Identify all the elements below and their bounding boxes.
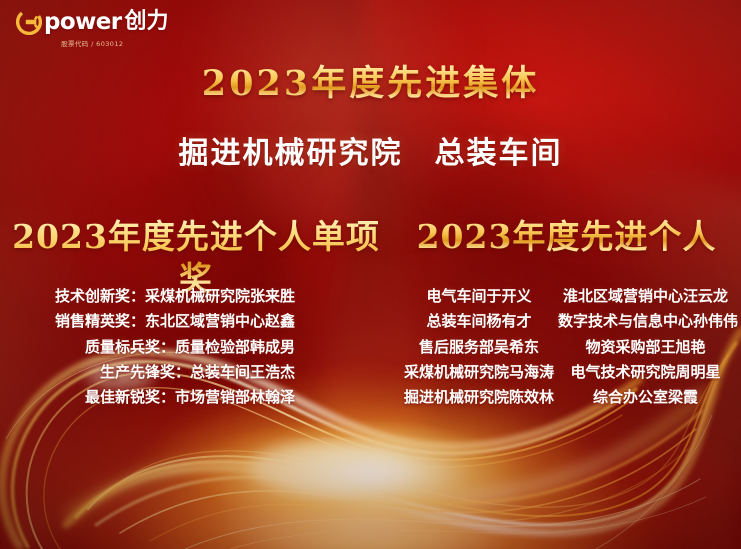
list-row: 售后服务部吴希东 物资采购部王旭艳 [400,335,741,360]
brand-wordmark: power [44,9,121,35]
silk-fold-decoration [178,0,474,231]
list-item: 采煤机械研究院马海涛 [400,360,558,385]
stock-code-label: 股票代码 / 603012 [61,38,123,48]
list-item: 数字技术与信息中心孙伟伟 [558,309,733,334]
power-plug-circle-icon [16,9,42,35]
list-row: 电气车间于开义 淮北区域营销中心汪云龙 [400,284,741,309]
list-item: 物资采购部王旭艳 [558,335,733,360]
list-item: 销售精英奖：东北区域营销中心赵鑫 [55,309,295,334]
list-item: 综合办公室梁霞 [558,385,733,410]
ribbon-glow-wide [0,388,741,549]
list-item: 电气技术研究院周明星 [558,360,733,385]
list-row: 总装车间杨有才 数字技术与信息中心孙伟伟 [400,309,741,334]
page-title: 2023年度先进集体 [0,62,741,106]
list-individual-special-awards: 技术创新奖：采煤机械研究院张来胜 销售精英奖：东北区域营销中心赵鑫 质量标兵奖：… [0,284,392,410]
list-row: 采煤机械研究院马海涛 电气技术研究院周明星 [400,360,741,385]
list-item: 生产先锋奖：总装车间王浩杰 [100,360,295,385]
list-item: 总装车间杨有才 [400,309,558,334]
list-advanced-individuals: 电气车间于开义 淮北区域营销中心汪云龙 总装车间杨有才 数字技术与信息中心孙伟伟… [392,284,741,410]
heading-advanced-individuals: 2023年度先进个人 [392,216,741,258]
list-item: 最佳新锐奖：市场营销部林翰泽 [85,385,295,410]
list-item: 质量标兵奖：质量检验部韩成男 [85,335,295,360]
list-item: 掘进机械研究院陈效林 [400,385,558,410]
list-row: 掘进机械研究院陈效林 综合办公室梁霞 [400,385,741,410]
list-item: 售后服务部吴希东 [400,335,558,360]
brand-logo-row: power 创力 [16,9,168,35]
brand-logo[interactable]: power 创力 股票代码 / 603012 [16,9,168,48]
award-poster: power 创力 股票代码 / 603012 2023年度先进集体 掘进机械研究… [0,0,741,549]
ribbon-glow-core [163,406,578,539]
brand-wordmark-cn: 创力 [124,9,168,35]
list-item: 技术创新奖：采煤机械研究院张来胜 [55,284,295,309]
award-lists: 技术创新奖：采煤机械研究院张来胜 销售精英奖：东北区域营销中心赵鑫 质量标兵奖：… [0,284,741,410]
page-subtitle: 掘进机械研究院 总装车间 [0,134,741,174]
list-item: 电气车间于开义 [400,284,558,309]
list-item: 淮北区域营销中心汪云龙 [558,284,733,309]
